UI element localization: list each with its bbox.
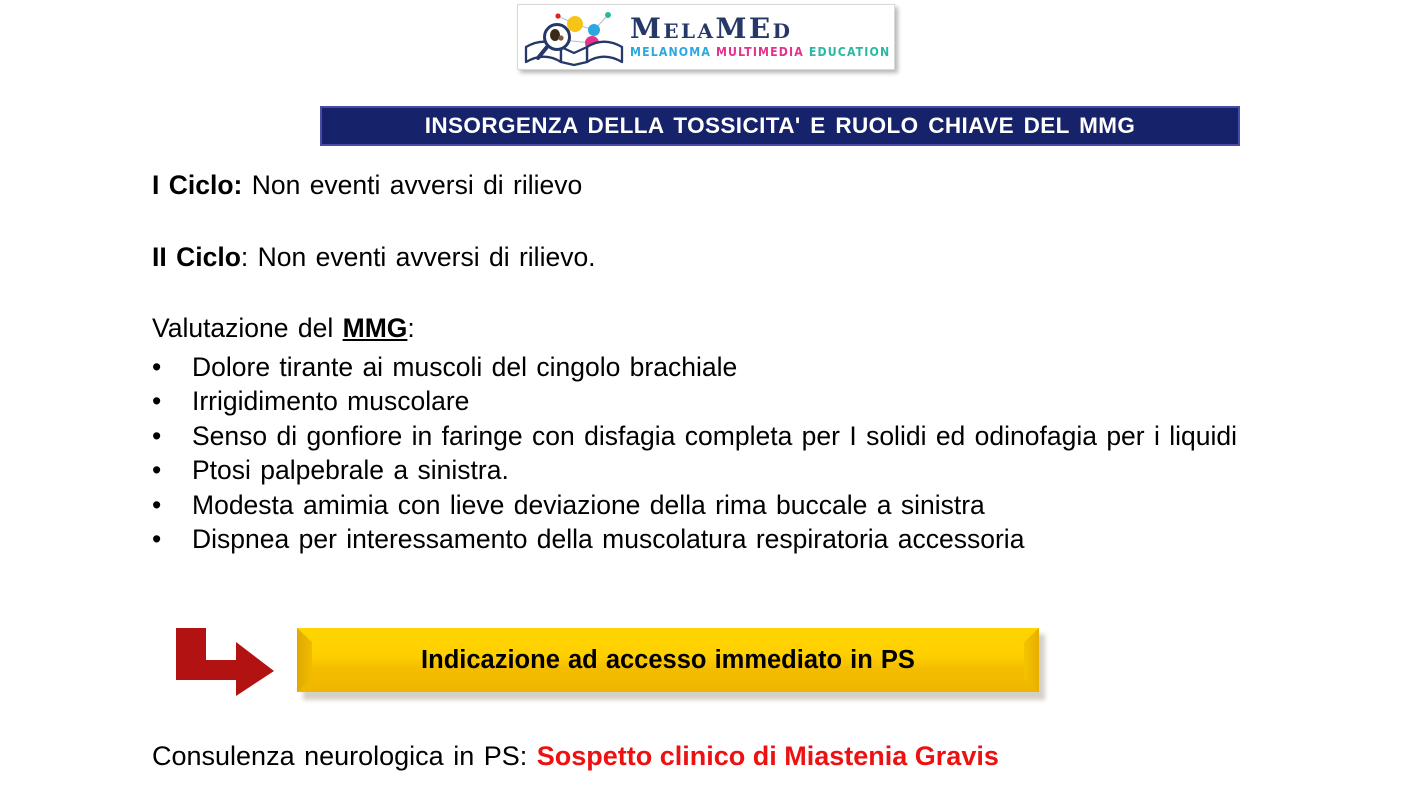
bullet-dot-icon: •	[152, 453, 192, 487]
logo-wordmark: MELAMED	[630, 15, 890, 43]
list-item: • Dolore tirante ai muscoli del cingolo …	[152, 350, 1272, 384]
page-title: INSORGENZA DELLA TOSSICITA' E RUOLO CHIA…	[425, 113, 1136, 139]
bullet-dot-icon: •	[152, 522, 192, 556]
bullet-dot-icon: •	[152, 350, 192, 384]
callout-label: Indicazione ad accesso immediato in PS	[421, 646, 915, 675]
bullet-dot-icon: •	[152, 384, 192, 418]
list-item: • Dispnea per interessamento della musco…	[152, 522, 1272, 556]
list-item: • Ptosi palpebrale a sinistra.	[152, 453, 1272, 487]
logo-subtitle-melanoma: MELANOMA	[630, 45, 711, 59]
list-item-label: Senso di gonfiore in faringe con disfagi…	[192, 419, 1272, 453]
list-item-label: Dolore tirante ai muscoli del cingolo br…	[192, 350, 1272, 384]
cycle-1-text: Non eventi avversi di rilievo	[252, 170, 583, 200]
logo-text-block: MELAMED MELANOMA MULTIMEDIA EDUCATION	[630, 15, 890, 58]
bullet-dot-icon: •	[152, 488, 192, 522]
slide-title-banner: INSORGENZA DELLA TOSSICITA' E RUOLO CHIA…	[320, 106, 1240, 146]
logo-subtitle-education: EDUCATION	[809, 45, 891, 59]
list-item-label: Ptosi palpebrale a sinistra.	[192, 453, 1272, 487]
evaluation-suffix: :	[407, 313, 414, 343]
evaluation-prefix: Valutazione del	[152, 313, 343, 343]
symptom-bullet-list: • Dolore tirante ai muscoli del cingolo …	[152, 350, 1272, 557]
evaluation-emphasis: MMG	[343, 313, 408, 343]
callout-box[interactable]: Indicazione ad accesso immediato in PS	[297, 628, 1039, 692]
cycle-2-separator: :	[241, 242, 258, 272]
list-item: • Irrigidimento muscolare	[152, 384, 1272, 418]
list-item: • Senso di gonfiore in faringe con disfa…	[152, 419, 1272, 453]
footer-emphasis: Sospetto clinico di Miastenia Gravis	[537, 741, 999, 771]
list-item-label: Irrigidimento muscolare	[192, 384, 1272, 418]
logo-subtitle: MELANOMA MULTIMEDIA EDUCATION	[630, 46, 890, 58]
cycle-2-line: II Ciclo: Non eventi avversi di rilievo.	[152, 243, 596, 273]
footer-conclusion-line: Consulenza neurologica in PS: Sospetto c…	[152, 741, 999, 772]
bullet-dot-icon: •	[152, 419, 192, 453]
list-item-label: Modesta amimia con lieve deviazione dell…	[192, 488, 1272, 522]
list-item-label: Dispnea per interessamento della muscola…	[192, 522, 1272, 556]
cycle-2-text: Non eventi avversi di rilievo.	[258, 242, 596, 272]
logo-subtitle-multimedia: MULTIMEDIA	[716, 45, 804, 59]
footer-prefix: Consulenza neurologica in PS:	[152, 741, 537, 771]
evaluation-heading: Valutazione del MMG:	[152, 314, 415, 344]
elbow-arrow-right-icon	[174, 626, 278, 698]
book-magnifier-network-logo-icon	[522, 7, 626, 67]
cycle-1-label: I Ciclo:	[152, 170, 242, 200]
cycle-2-label: II Ciclo	[152, 242, 241, 272]
cycle-1-line: I Ciclo: Non eventi avversi di rilievo	[152, 171, 582, 201]
list-item: • Modesta amimia con lieve deviazione de…	[152, 488, 1272, 522]
melamed-logo: MELAMED MELANOMA MULTIMEDIA EDUCATION	[517, 4, 895, 70]
